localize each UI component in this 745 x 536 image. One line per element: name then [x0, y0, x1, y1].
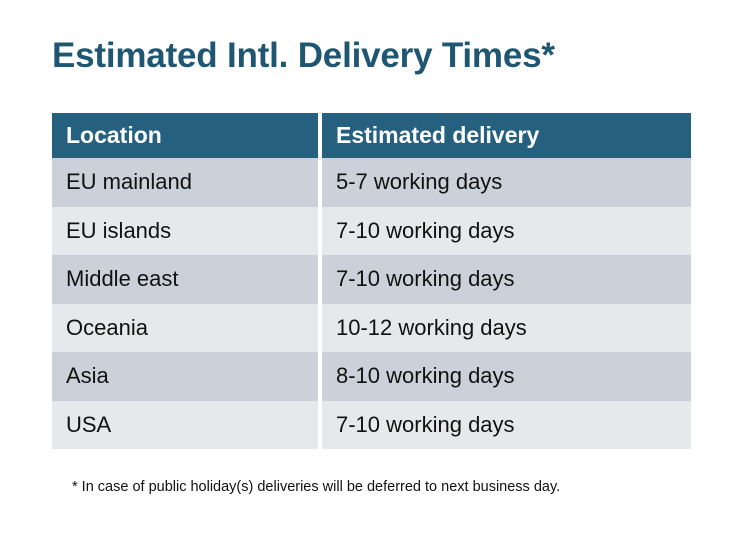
delivery-times-table: Location Estimated delivery EU mainland … [52, 113, 691, 449]
table-row: EU mainland 5-7 working days [52, 158, 691, 207]
table-header: Location Estimated delivery [52, 113, 691, 158]
cell-location: USA [52, 401, 318, 450]
table-row: USA 7-10 working days [52, 401, 691, 450]
cell-delivery: 7-10 working days [322, 255, 691, 304]
table-body: EU mainland 5-7 working days EU islands … [52, 158, 691, 449]
table-row: Oceania 10-12 working days [52, 304, 691, 353]
cell-location: Asia [52, 352, 318, 401]
cell-location: EU mainland [52, 158, 318, 207]
cell-delivery: 10-12 working days [322, 304, 691, 353]
cell-delivery: 5-7 working days [322, 158, 691, 207]
table-header-row: Location Estimated delivery [52, 113, 691, 158]
page-title: Estimated Intl. Delivery Times* [52, 36, 555, 76]
cell-location: Oceania [52, 304, 318, 353]
delivery-times-page: Estimated Intl. Delivery Times* Location… [0, 0, 745, 536]
table-row: Middle east 7-10 working days [52, 255, 691, 304]
table-row: Asia 8-10 working days [52, 352, 691, 401]
table-row: EU islands 7-10 working days [52, 207, 691, 256]
cell-location: Middle east [52, 255, 318, 304]
cell-delivery: 7-10 working days [322, 401, 691, 450]
footnote: * In case of public holiday(s) deliverie… [72, 479, 560, 495]
column-header-estimated-delivery: Estimated delivery [322, 113, 691, 158]
cell-location: EU islands [52, 207, 318, 256]
cell-delivery: 7-10 working days [322, 207, 691, 256]
column-header-location: Location [52, 113, 318, 158]
cell-delivery: 8-10 working days [322, 352, 691, 401]
